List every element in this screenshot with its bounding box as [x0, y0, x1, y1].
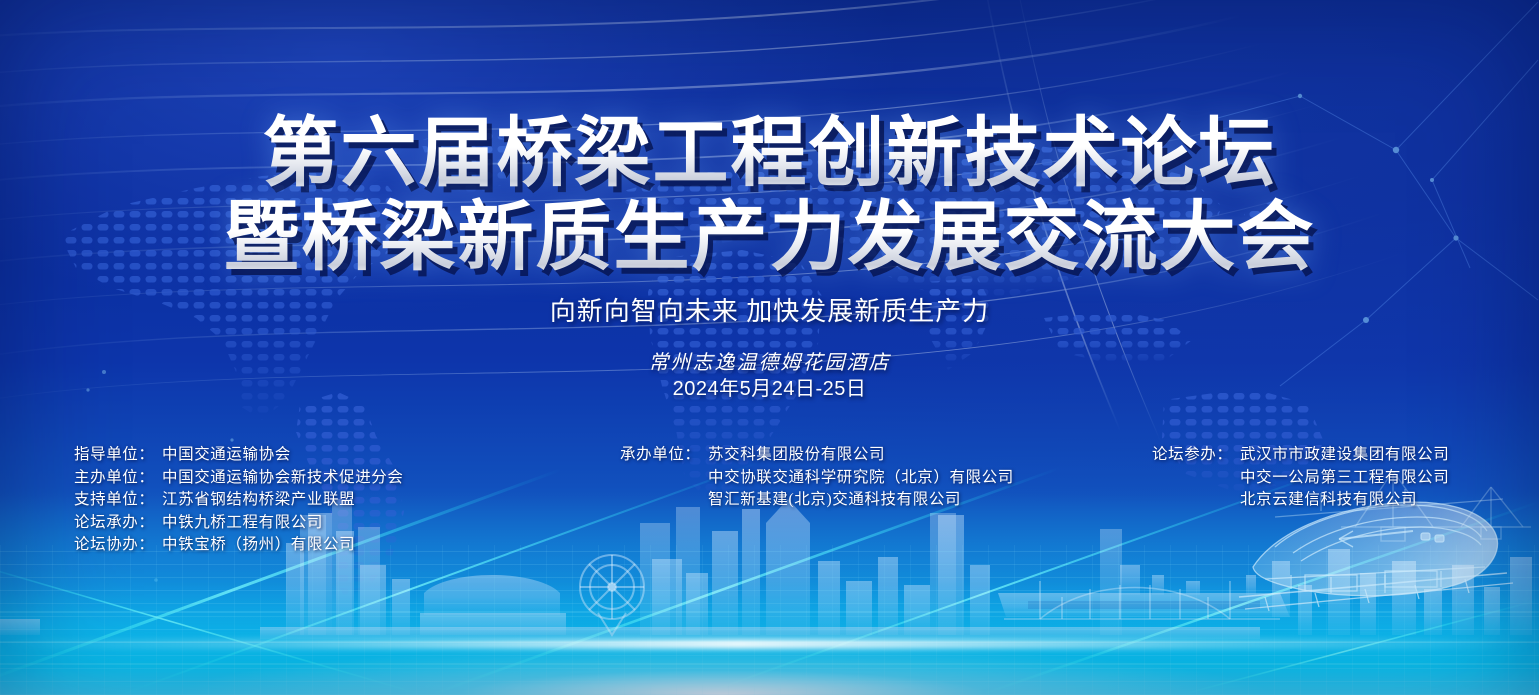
banner-subtitle: 向新向智向未来 加快发展新质生产力 — [0, 296, 1539, 328]
organizer-value: 中交协联交通科学研究院（北京）有限公司 — [708, 467, 1014, 490]
title-line-2: 暨桥梁新质生产力发展交流大会 — [0, 196, 1539, 280]
organizer-column-right: 论坛参办： 武汉市市政建设集团有限公司 论坛参办： 中交一公局第三工程有限公司 … — [1152, 444, 1449, 512]
organizer-column-left: 指导单位： 中国交通运输协会 主办单位： 中国交通运输协会新技术促进分会 支持单… — [74, 444, 404, 557]
organizer-label: 承办单位： — [620, 444, 708, 467]
organizer-label: 论坛协办： — [74, 534, 162, 557]
organizer-value: 智汇新基建(北京)交通科技有限公司 — [708, 489, 961, 512]
organizer-label: 主办单位： — [74, 467, 162, 490]
organizer-label: 指导单位： — [74, 444, 162, 467]
organizer-row: 论坛参办： 中交一公局第三工程有限公司 — [1152, 467, 1449, 490]
organizer-value: 中交一公局第三工程有限公司 — [1240, 467, 1449, 490]
organizer-row: 主办单位： 中国交通运输协会新技术促进分会 — [74, 467, 404, 490]
venue-name: 常州志逸温德姆花园酒店 — [0, 350, 1539, 376]
organizer-label: 支持单位： — [74, 489, 162, 512]
organizer-label: 论坛参办： — [1152, 444, 1240, 467]
organizer-row: 指导单位： 中国交通运输协会 — [74, 444, 404, 467]
organizer-row: 论坛承办： 中铁九桥工程有限公司 — [74, 512, 404, 535]
organizer-value: 中铁九桥工程有限公司 — [162, 512, 323, 535]
organizer-row: 论坛参办： 武汉市市政建设集团有限公司 — [1152, 444, 1449, 467]
title-line-1: 第六届桥梁工程创新技术论坛 — [0, 112, 1539, 196]
organizer-section: 指导单位： 中国交通运输协会 主办单位： 中国交通运输协会新技术促进分会 支持单… — [0, 444, 1539, 574]
organizer-row: 承办单位： 苏交科集团股份有限公司 — [620, 444, 1014, 467]
organizer-value: 北京云建信科技有限公司 — [1240, 489, 1417, 512]
organizer-value: 江苏省钢结构桥梁产业联盟 — [162, 489, 355, 512]
organizer-value: 中国交通运输协会新技术促进分会 — [162, 467, 404, 490]
organizer-value: 苏交科集团股份有限公司 — [708, 444, 885, 467]
organizer-row: 支持单位： 江苏省钢结构桥梁产业联盟 — [74, 489, 404, 512]
organizer-row: 论坛协办： 中铁宝桥（扬州）有限公司 — [74, 534, 404, 557]
organizer-value: 武汉市市政建设集团有限公司 — [1240, 444, 1449, 467]
organizer-label: 论坛承办： — [74, 512, 162, 535]
event-dates: 2024年5月24日-25日 — [0, 376, 1539, 402]
banner-content: 第六届桥梁工程创新技术论坛 暨桥梁新质生产力发展交流大会 向新向智向未来 加快发… — [0, 0, 1539, 695]
organizer-row: 承办单位： 中交协联交通科学研究院（北京）有限公司 — [620, 467, 1014, 490]
organizer-value: 中铁宝桥（扬州）有限公司 — [162, 534, 355, 557]
organizer-row: 论坛参办： 北京云建信科技有限公司 — [1152, 489, 1449, 512]
conference-banner: 第六届桥梁工程创新技术论坛 暨桥梁新质生产力发展交流大会 向新向智向未来 加快发… — [0, 0, 1539, 695]
organizer-value: 中国交通运输协会 — [162, 444, 291, 467]
organizer-row: 承办单位： 智汇新基建(北京)交通科技有限公司 — [620, 489, 1014, 512]
banner-title: 第六届桥梁工程创新技术论坛 暨桥梁新质生产力发展交流大会 — [0, 112, 1539, 280]
organizer-column-middle: 承办单位： 苏交科集团股份有限公司 承办单位： 中交协联交通科学研究院（北京）有… — [620, 444, 1014, 512]
